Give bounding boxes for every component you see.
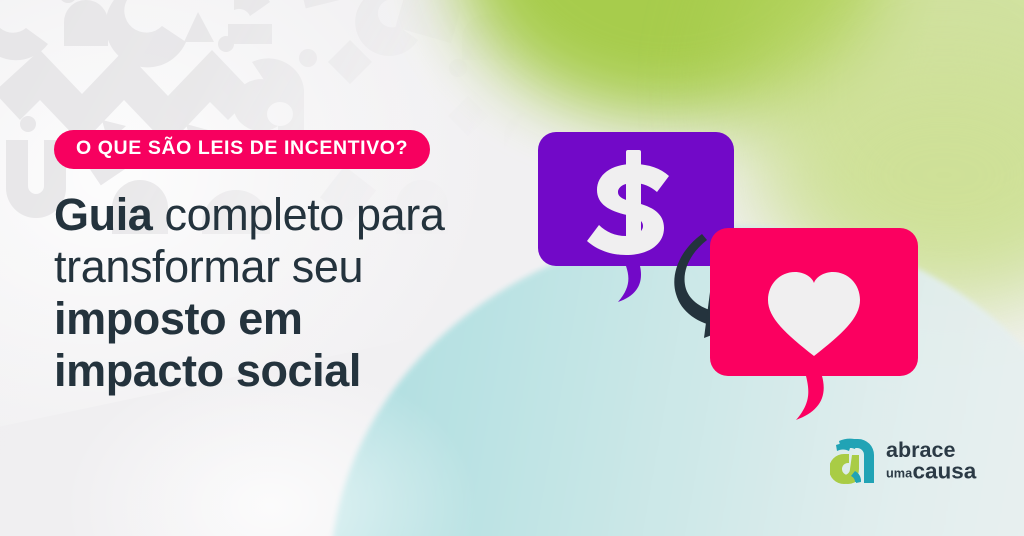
logo-wordmark: abrace uma causa: [886, 437, 980, 483]
logo-line2-big: causa: [912, 459, 976, 483]
abrace-uma-causa-mark-icon: [830, 435, 877, 485]
eyebrow-badge: O QUE SÃO LEIS DE INCENTIVO?: [54, 130, 430, 169]
headline-segment-2: imposto em impacto social: [54, 293, 361, 396]
background-green-blob-1: [454, 0, 884, 120]
logo-line2-small: uma: [886, 466, 913, 481]
page-title: Guia completo para transformar seu impos…: [54, 189, 474, 398]
text-column: O QUE SÃO LEIS DE INCENTIVO? Guia comple…: [54, 130, 524, 427]
brand-logo[interactable]: abrace uma causa: [830, 432, 980, 488]
promo-banner: O QUE SÃO LEIS DE INCENTIVO? Guia comple…: [0, 0, 1024, 536]
headline-segment-0: Guia: [54, 189, 165, 240]
illustration: [520, 110, 950, 440]
heart-speech-bubble: [710, 228, 918, 420]
